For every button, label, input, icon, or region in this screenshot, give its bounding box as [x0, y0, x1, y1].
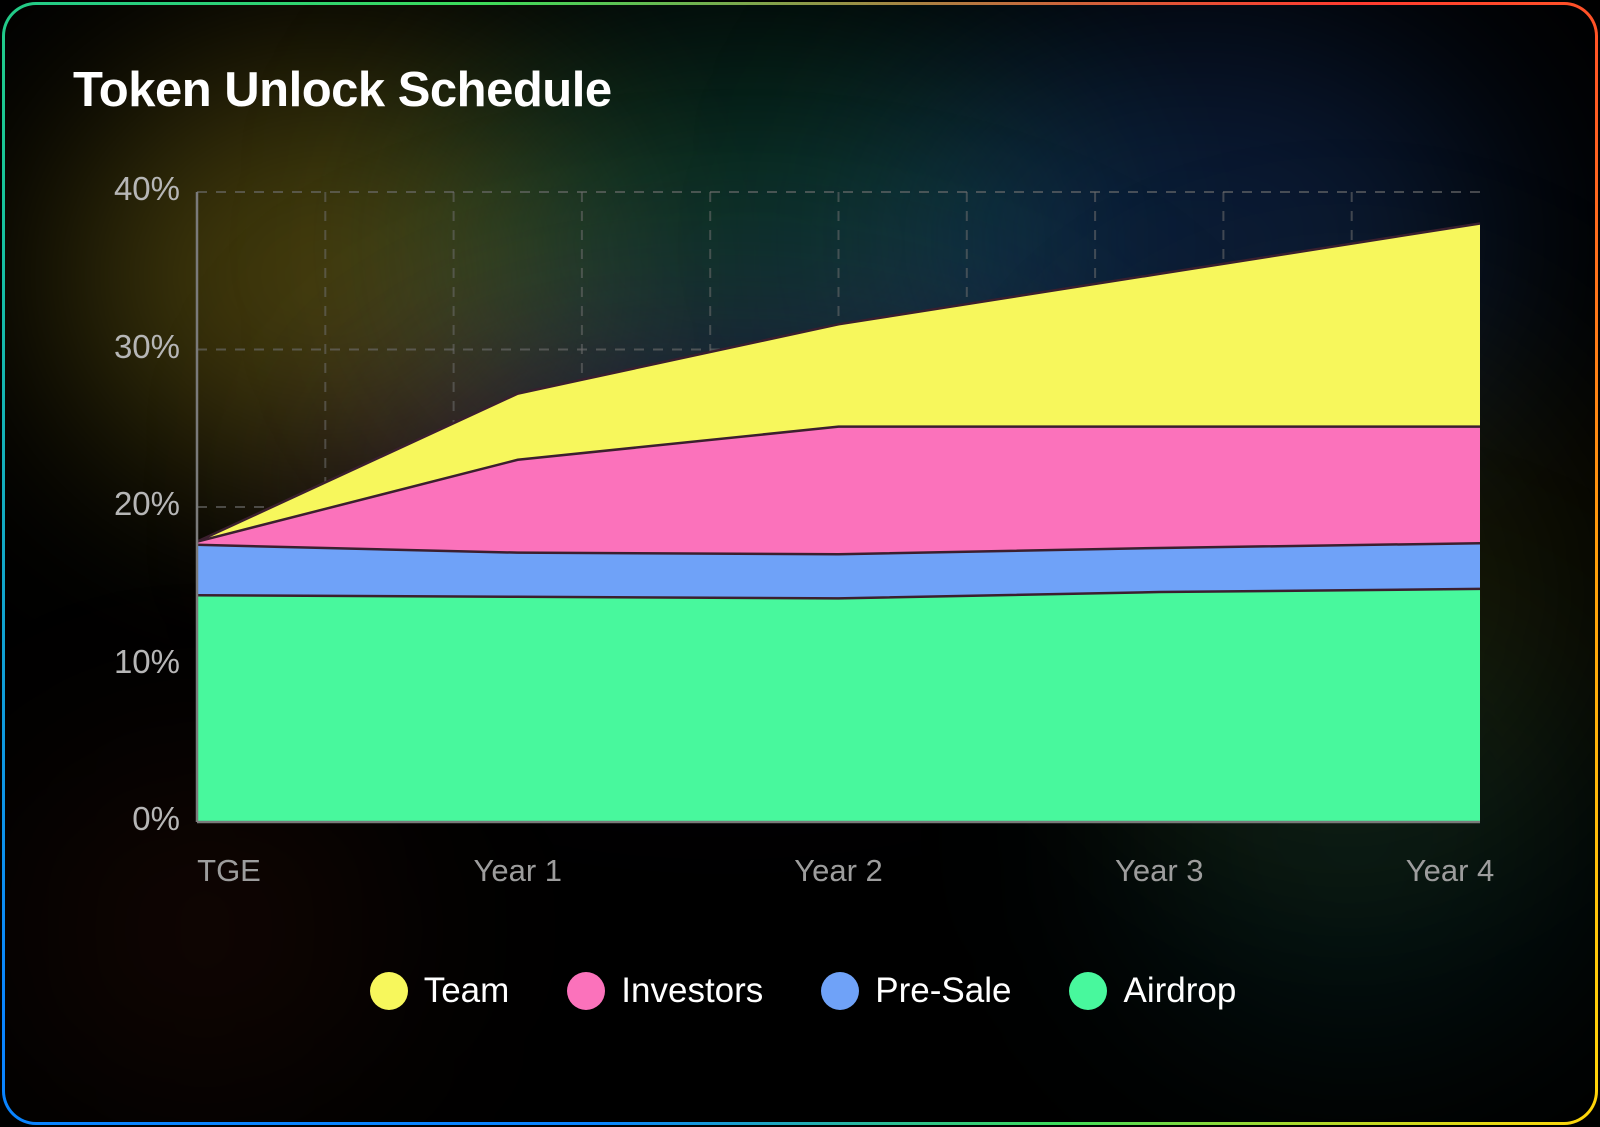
legend-item-team[interactable]: Team: [370, 971, 510, 1011]
legend-item-airdrop[interactable]: Airdrop: [1069, 971, 1236, 1011]
legend-item-pre-sale[interactable]: Pre-Sale: [821, 971, 1011, 1011]
legend-swatch-icon: [821, 972, 859, 1010]
legend-label: Investors: [621, 971, 763, 1011]
y-tick-label: 30%: [70, 328, 180, 366]
x-axis: TGEYear 1Year 2Year 3Year 4: [5, 853, 1595, 905]
chart-legend: TeamInvestorsPre-SaleAirdrop: [5, 971, 1595, 1011]
x-tick-label: Year 4: [1406, 853, 1495, 889]
y-axis: 0%10%20%30%40%: [60, 5, 180, 1122]
legend-swatch-icon: [567, 972, 605, 1010]
legend-label: Pre-Sale: [875, 971, 1011, 1011]
legend-item-investors[interactable]: Investors: [567, 971, 763, 1011]
y-tick-label: 0%: [70, 800, 180, 838]
area-airdrop: [197, 589, 1480, 822]
x-tick-label: Year 2: [794, 853, 883, 889]
stacked-area-chart: 0%10%20%30%40% TGEYear 1Year 2Year 3Year…: [5, 5, 1595, 1122]
legend-swatch-icon: [370, 972, 408, 1010]
legend-swatch-icon: [1069, 972, 1107, 1010]
y-tick-label: 10%: [70, 643, 180, 681]
chart-canvas: [5, 5, 1595, 1122]
chart-card: Token Unlock Schedule 0%10%20%30%40% TGE…: [2, 2, 1598, 1125]
legend-label: Airdrop: [1123, 971, 1236, 1011]
x-tick-label: Year 1: [474, 853, 563, 889]
x-tick-label: Year 3: [1115, 853, 1204, 889]
chart-card-inner: Token Unlock Schedule 0%10%20%30%40% TGE…: [5, 5, 1595, 1122]
y-tick-label: 40%: [70, 170, 180, 208]
x-tick-label: TGE: [197, 853, 261, 889]
legend-label: Team: [424, 971, 510, 1011]
y-tick-label: 20%: [70, 485, 180, 523]
